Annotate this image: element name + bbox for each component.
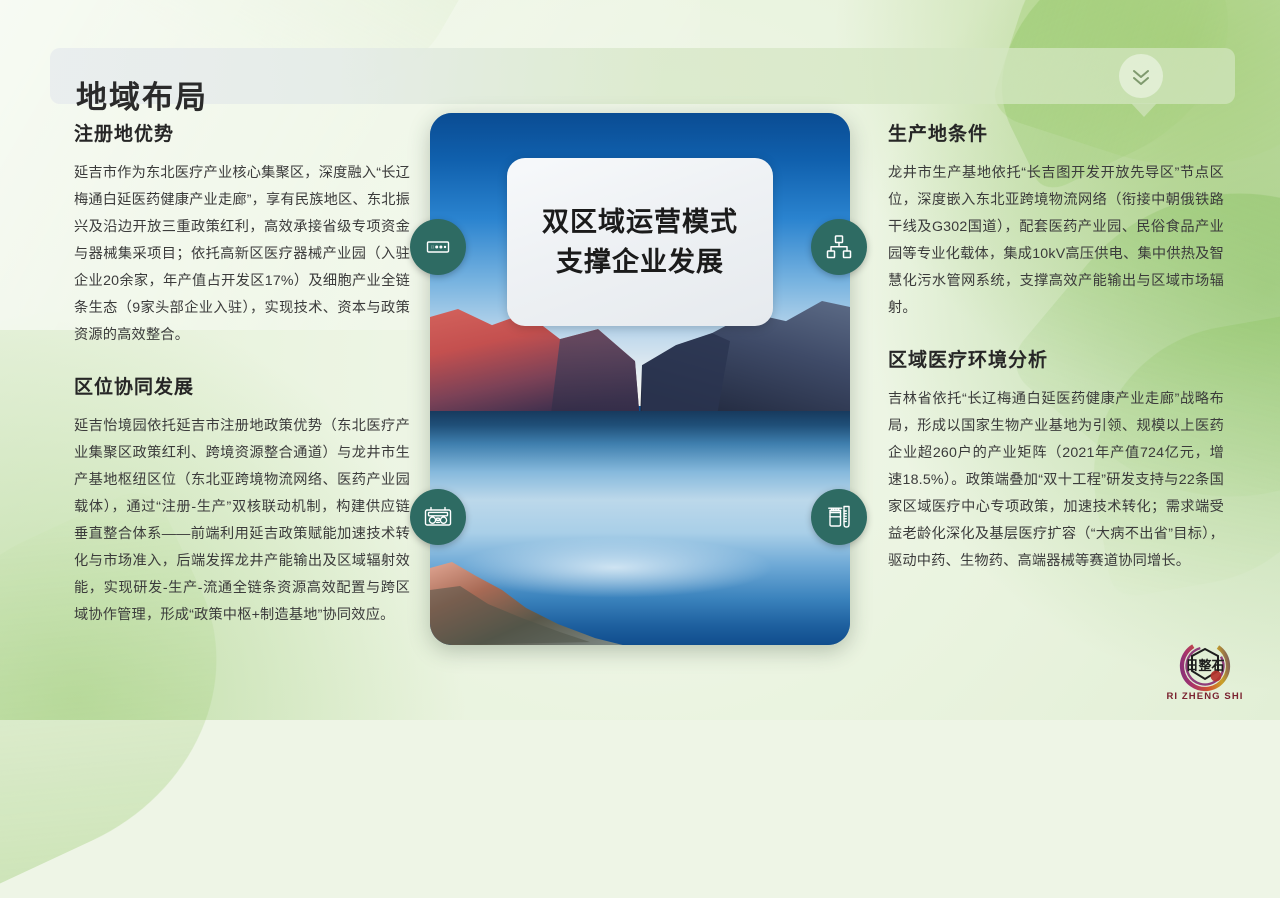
radio-boombox-icon [423,503,453,531]
section-title-location-synergy: 区位协同发展 [74,375,410,401]
logo-mark-icon: 日整石 [1177,638,1233,694]
center-image-card[interactable]: 双区域运营模式 支撑企业发展 [430,113,850,645]
section-title-registration-advantage: 注册地优势 [74,122,410,148]
card-label-panel: 双区域运营模式 支撑企业发展 [507,158,773,326]
section-body-production-conditions: 龙井市生产基地依托“长吉图开发开放先导区”节点区位，深度嵌入东北亚跨境物流网络（… [888,160,1224,322]
password-dots-icon [425,234,451,260]
sitemap-hierarchy-icon [825,233,853,261]
collapse-button[interactable] [1119,54,1163,98]
badge-radio[interactable] [410,489,466,545]
badge-password-dots[interactable] [410,219,466,275]
header-pointer-arrow [1131,103,1157,117]
left-text-column: 注册地优势 延吉市作为东北医疗产业核心集聚区，深度融入“长辽梅通白延医药健康产业… [74,122,410,629]
photo-foreground-shore [430,560,623,645]
section-title-regional-medical-analysis: 区域医疗环境分析 [888,348,1224,374]
beaker-test-tube-icon [825,503,853,531]
header-bar [50,48,1235,104]
badge-beaker[interactable] [811,489,867,545]
right-text-column: 生产地条件 龙井市生产基地依托“长吉图开发开放先导区”节点区位，深度嵌入东北亚跨… [888,122,1224,575]
brand-logo: 日整石 RI ZHENG SHI [1158,638,1252,712]
section-body-registration-advantage: 延吉市作为东北医疗产业核心集聚区，深度融入“长辽梅通白延医药健康产业走廊”，享有… [74,160,410,349]
page-title: 地域布局 [76,77,208,119]
section-body-regional-medical-analysis: 吉林省依托“长辽梅通白延医药健康产业走廊”战略布局，形成以国家生物产业基地为引领… [888,386,1224,575]
badge-sitemap[interactable] [811,219,867,275]
section-title-production-conditions: 生产地条件 [888,122,1224,148]
double-chevron-down-icon [1129,64,1153,88]
card-label-text: 双区域运营模式 支撑企业发展 [542,202,738,282]
section-body-location-synergy: 延吉怡境园依托延吉市注册地政策优势（东北医疗产业集聚区政策红利、跨境资源整合通道… [74,413,410,629]
